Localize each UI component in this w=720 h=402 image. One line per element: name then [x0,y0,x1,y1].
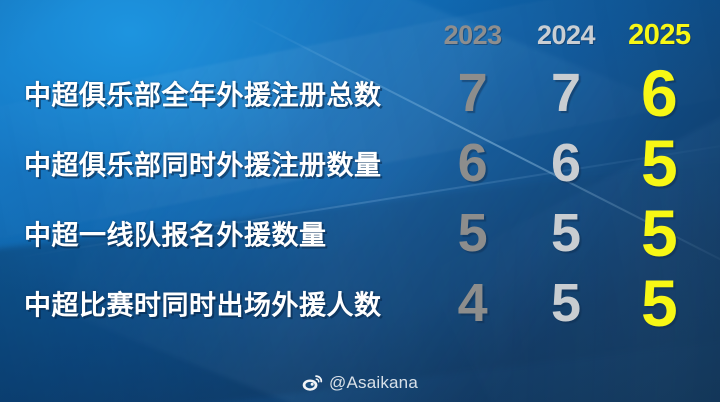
watermark-handle: @Asaikana [329,373,418,393]
infographic-canvas: 2023 2024 2025 中超俱乐部全年外援注册总数 7 7 6 中超俱乐部… [0,0,720,402]
table-row: 中超比赛时同时出场外援人数 4 5 5 [0,268,720,338]
data-rows: 中超俱乐部全年外援注册总数 7 7 6 中超俱乐部同时外援注册数量 6 6 5 … [0,58,720,338]
row-label: 中超比赛时同时出场外援人数 [24,284,382,323]
watermark: @Asaikana [0,373,720,393]
table-row: 中超俱乐部全年外援注册总数 7 7 6 [0,58,720,128]
row-label: 中超俱乐部同时外援注册数量 [24,144,382,183]
value-2025: 5 [613,200,706,266]
value-2025: 5 [613,130,706,196]
row-values: 5 5 5 [426,198,706,268]
value-2024: 5 [519,276,612,330]
year-header-row: 2023 2024 2025 [426,18,706,52]
row-values: 7 7 6 [426,58,706,128]
row-label: 中超俱乐部全年外援注册总数 [24,74,382,113]
value-2023: 6 [426,136,519,190]
weibo-icon [302,374,323,392]
row-values: 6 6 5 [426,128,706,198]
value-2023: 4 [426,276,519,330]
value-2023: 7 [426,66,519,120]
table-row: 中超一线队报名外援数量 5 5 5 [0,198,720,268]
year-header-2025: 2025 [613,21,706,50]
value-2025: 6 [613,60,706,126]
value-2024: 6 [519,136,612,190]
value-2025: 5 [613,270,706,336]
row-values: 4 5 5 [426,268,706,338]
value-2024: 5 [519,206,612,260]
year-header-2024: 2024 [519,22,612,49]
row-label: 中超一线队报名外援数量 [24,214,327,253]
value-2023: 5 [426,206,519,260]
table-row: 中超俱乐部同时外援注册数量 6 6 5 [0,128,720,198]
year-header-2023: 2023 [426,22,519,49]
value-2024: 7 [519,66,612,120]
